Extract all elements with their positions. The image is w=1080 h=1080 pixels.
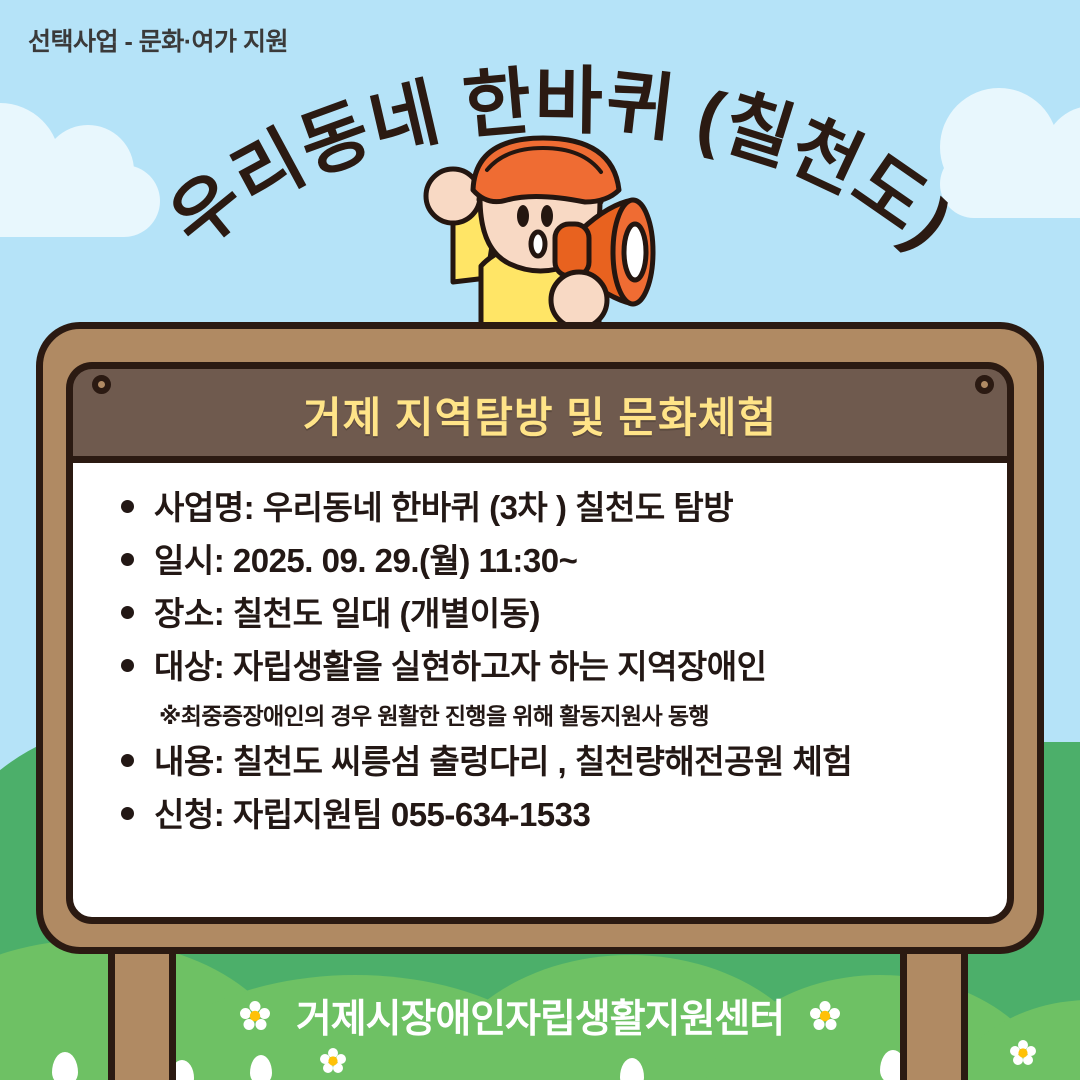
list-item-label: 일시: 2025. 09. 29.(월) 11:30~: [154, 542, 577, 581]
list-item-label: 대상: 자립생활을 실현하고자 하는 지역장애인: [154, 648, 767, 687]
screw-icon-left: [92, 375, 111, 394]
board-header-bar: 거제 지역탐방 및 문화체험: [66, 362, 1014, 460]
mascot-eye-left: [517, 205, 529, 227]
list-item: 내용: 칠천도 씨릉섬 출렁다리 , 칠천량해전공원 체험: [107, 743, 973, 782]
mascot-boy-with-megaphone: [395, 128, 695, 333]
list-item: 일시: 2025. 09. 29.(월) 11:30~: [107, 542, 973, 581]
board-title: 거제 지역탐방 및 문화체험: [303, 384, 777, 445]
list-item-label: 신청: 자립지원팀 055-634-1533: [154, 796, 590, 835]
list-note: ※최중증장애인의 경우 원활한 진행을 위해 활동지원사 동행: [159, 697, 973, 731]
megaphone-grip: [555, 224, 589, 276]
bullet-dot-icon: [121, 807, 134, 820]
cloud-icon-left: [0, 165, 160, 237]
bullet-dot-icon: [121, 659, 134, 672]
bullet-dot-icon: [121, 553, 134, 566]
bullet-dot-icon: [121, 606, 134, 619]
list-item: 사업명: 우리동네 한바퀴 (3차 ) 칠천도 탐방: [107, 489, 973, 528]
bullet-dot-icon: [121, 754, 134, 767]
footer-organization: 거제시장애인자립생활지원센터: [296, 988, 784, 1044]
mascot-hand-left: [426, 169, 480, 223]
mascot-hand-right: [551, 272, 607, 328]
info-list: 사업명: 우리동네 한바퀴 (3차 ) 칠천도 탐방 일시: 2025. 09.…: [107, 489, 973, 835]
flower-icon: [320, 1048, 346, 1074]
screw-icon-right: [975, 375, 994, 394]
list-item-label: 내용: 칠천도 씨릉섬 출렁다리 , 칠천량해전공원 체험: [154, 743, 852, 782]
note-label: ※최중증장애인의 경우 원활한 진행을 위해 활동지원사 동행: [159, 703, 709, 729]
flower-icon-left: [240, 1001, 270, 1031]
megaphone-inner: [624, 224, 646, 280]
list-item-label: 장소: 칠천도 일대 (개별이동): [154, 595, 540, 634]
list-item: 대상: 자립생활을 실현하고자 하는 지역장애인: [107, 648, 973, 687]
list-item: 신청: 자립지원팀 055-634-1533: [107, 796, 973, 835]
bullet-dot-icon: [121, 500, 134, 513]
list-item: 장소: 칠천도 일대 (개별이동): [107, 595, 973, 634]
flower-icon-right: [810, 1001, 840, 1031]
mascot-mouth: [531, 232, 545, 256]
board-content-panel: 사업명: 우리동네 한바퀴 (3차 ) 칠천도 탐방 일시: 2025. 09.…: [66, 456, 1014, 924]
list-item-label: 사업명: 우리동네 한바퀴 (3차 ) 칠천도 탐방: [154, 489, 733, 528]
footer-bar: 거제시장애인자립생활지원센터: [0, 985, 1080, 1047]
poster-canvas: 선택사업 - 문화·여가 지원 우리동네 한바퀴 (칠천도): [0, 0, 1080, 1080]
mascot-eye-right: [541, 205, 553, 227]
